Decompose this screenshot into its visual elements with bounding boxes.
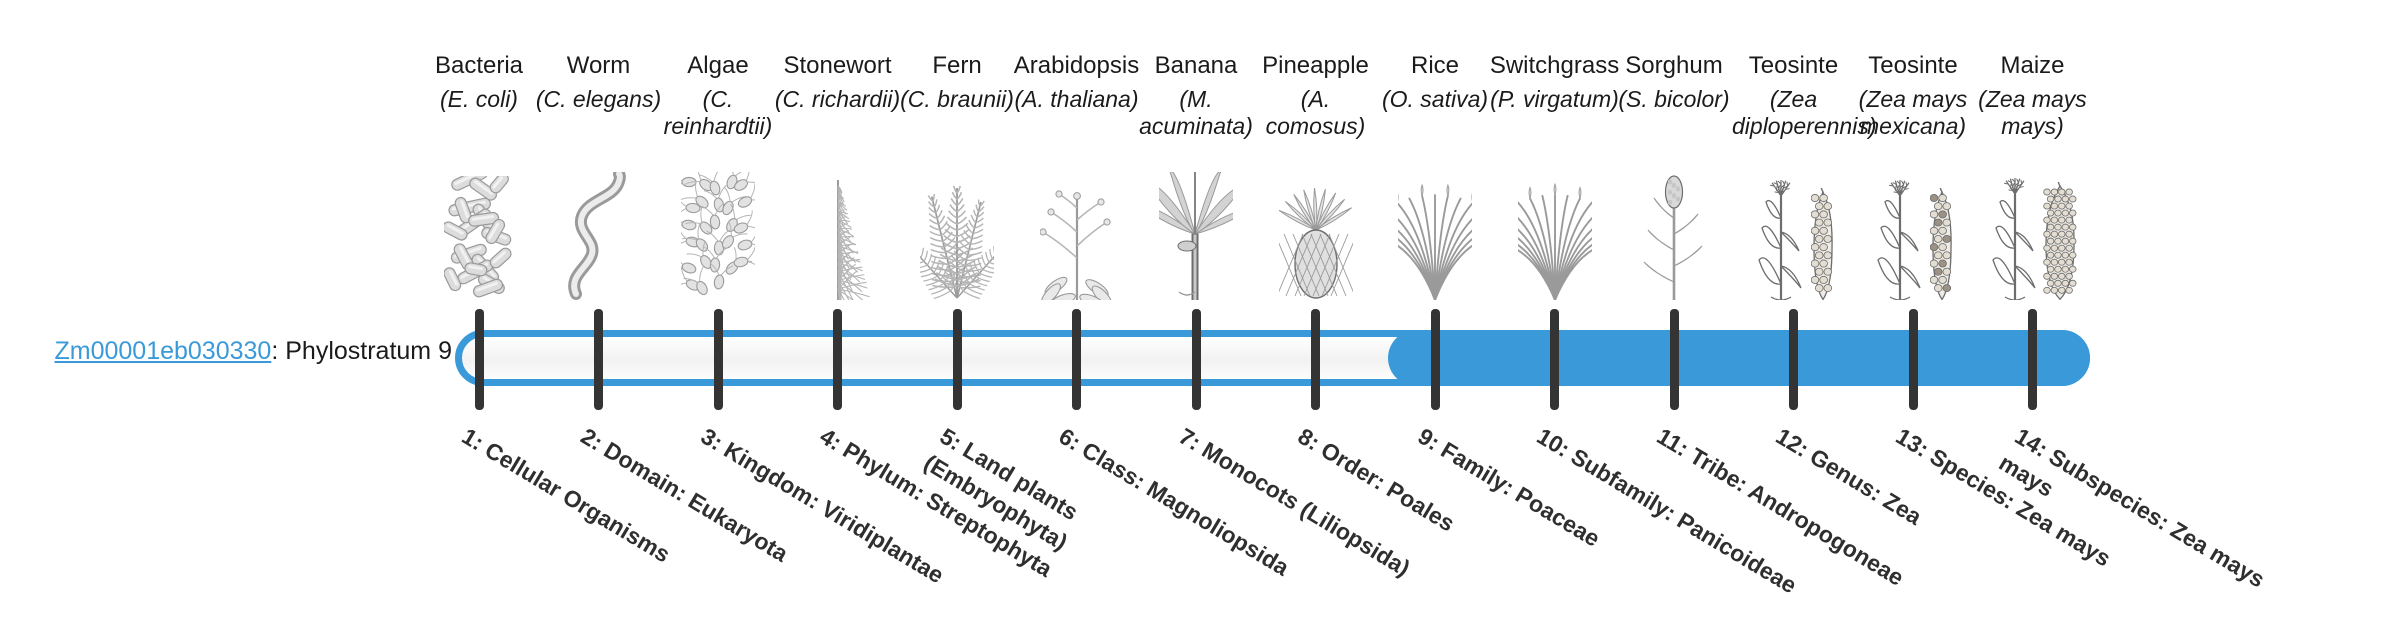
stratum-tick bbox=[1670, 309, 1679, 410]
species-name-block: Fern(C. braunii) bbox=[892, 52, 1023, 113]
stratum-rank-label: 14: Subspecies: Zea mays mays bbox=[1993, 421, 2282, 629]
phylostratigraphy-chart: Zm00001eb030330: Phylostratum 9 Bacteria… bbox=[0, 0, 2400, 580]
stratum-tick bbox=[833, 309, 842, 410]
species-common-name: Banana bbox=[1131, 52, 1262, 80]
stratum-number: 7: bbox=[1174, 423, 1205, 456]
species-scientific-name: (S. bicolor) bbox=[1609, 86, 1740, 113]
species-column: Fern(C. braunii)5: Land plants (Embryoph… bbox=[898, 0, 1017, 580]
stratum-tick bbox=[475, 309, 484, 410]
stratum-tick bbox=[714, 309, 723, 410]
stratum-rank: Subspecies: bbox=[2045, 443, 2175, 535]
species-column: Bacteria(E. coli)1: Cellular Organisms bbox=[420, 0, 539, 580]
stratum-tick bbox=[2028, 309, 2037, 410]
species-column: Algae(C. reinhardtii)3: Kingdom: Viridip… bbox=[659, 0, 778, 580]
species-common-name: Worm bbox=[533, 52, 664, 80]
algae-cells-illustration bbox=[659, 172, 778, 300]
stratum-number: 2: bbox=[577, 423, 608, 456]
sorghum-plant-illustration bbox=[1615, 172, 1734, 300]
arabidopsis-plant-illustration bbox=[1017, 172, 1136, 300]
rice-plant-illustration bbox=[1376, 172, 1495, 300]
species-name-block: Arabidopsis(A. thaliana) bbox=[1011, 52, 1142, 113]
stratum-tick bbox=[1072, 309, 1081, 410]
species-scientific-name: (A. thaliana) bbox=[1011, 86, 1142, 113]
species-scientific-name: (Zea mays mexicana) bbox=[1848, 86, 1979, 140]
species-name-block: Algae(C. reinhardtii) bbox=[653, 52, 784, 140]
stratum-number: 3: bbox=[696, 423, 727, 456]
nematode-worm-illustration bbox=[539, 172, 658, 300]
species-common-name: Arabidopsis bbox=[1011, 52, 1142, 80]
banana-tree-illustration bbox=[1137, 172, 1256, 300]
species-scientific-name: (M. acuminata) bbox=[1131, 86, 1262, 140]
species-scientific-name: (C. richardii) bbox=[772, 86, 903, 113]
species-common-name: Sorghum bbox=[1609, 52, 1740, 80]
species-scientific-name: (C. braunii) bbox=[892, 86, 1023, 113]
species-columns: Bacteria(E. coli)1: Cellular OrganismsWo… bbox=[0, 0, 2400, 580]
species-column: Teosinte(Zea diploperennis)12: Genus: Ze… bbox=[1734, 0, 1853, 580]
bacteria-rods-illustration bbox=[420, 172, 539, 300]
species-name-block: Sorghum(S. bicolor) bbox=[1609, 52, 1740, 113]
species-common-name: Maize bbox=[1967, 52, 2098, 80]
species-name-block: Stonewort(C. richardii) bbox=[772, 52, 903, 113]
stratum-tick bbox=[1311, 309, 1320, 410]
species-scientific-name: (Zea mays mays) bbox=[1967, 86, 2098, 140]
species-name-block: Pineapple(A. comosus) bbox=[1250, 52, 1381, 140]
maize-plant-and-ear-illustration bbox=[1973, 172, 2092, 300]
species-common-name: Pineapple bbox=[1250, 52, 1381, 80]
species-scientific-name: (C. reinhardtii) bbox=[653, 86, 784, 140]
species-scientific-name: (O. sativa) bbox=[1370, 86, 1501, 113]
stratum-tick bbox=[1789, 309, 1798, 410]
teosinte-plant-and-ear-illustration bbox=[1734, 172, 1853, 300]
species-column: Rice(O. sativa)9: Family: Poaceae bbox=[1376, 0, 1495, 580]
stratum-tick bbox=[1431, 309, 1440, 410]
species-column: Arabidopsis(A. thaliana)6: Class: Magnol… bbox=[1017, 0, 1136, 580]
species-column: Sorghum(S. bicolor)11: Tribe: Andropogon… bbox=[1615, 0, 1734, 580]
species-common-name: Teosinte bbox=[1848, 52, 1979, 80]
species-name-block: Teosinte(Zea diploperennis) bbox=[1728, 52, 1859, 140]
species-scientific-name: (C. elegans) bbox=[533, 86, 664, 113]
stratum-number: 5: bbox=[935, 423, 966, 456]
species-column: Teosinte(Zea mays mexicana)13: Species: … bbox=[1854, 0, 1973, 580]
species-common-name: Stonewort bbox=[772, 52, 903, 80]
species-scientific-name: (E. coli) bbox=[414, 86, 545, 113]
species-name-block: Maize(Zea mays mays) bbox=[1967, 52, 2098, 140]
species-name-block: Bacteria(E. coli) bbox=[414, 52, 545, 113]
stratum-tick bbox=[1192, 309, 1201, 410]
species-column: Pineapple(A. comosus)8: Order: Poales bbox=[1256, 0, 1375, 580]
species-column: Banana(M. acuminata)7: Monocots (Liliops… bbox=[1137, 0, 1256, 580]
stratum-tick bbox=[953, 309, 962, 410]
stratum-number: 9: bbox=[1413, 423, 1444, 456]
fern-frond-illustration bbox=[898, 172, 1017, 300]
teosinte-plant-and-ear-illustration bbox=[1854, 172, 1973, 300]
species-name-block: Rice(O. sativa) bbox=[1370, 52, 1501, 113]
species-common-name: Teosinte bbox=[1728, 52, 1859, 80]
species-common-name: Rice bbox=[1370, 52, 1501, 80]
stonewort-illustration bbox=[778, 172, 897, 300]
pineapple-illustration bbox=[1256, 172, 1375, 300]
species-scientific-name: (A. comosus) bbox=[1250, 86, 1381, 140]
species-column: Maize(Zea mays mays)14: Subspecies: Zea … bbox=[1973, 0, 2092, 580]
stratum-number: 6: bbox=[1055, 423, 1086, 456]
stratum-number: 13: bbox=[1891, 423, 1933, 462]
species-column: Switchgrass(P. virgatum)10: Subfamily: P… bbox=[1495, 0, 1614, 580]
species-name-block: Worm(C. elegans) bbox=[533, 52, 664, 113]
species-name-block: Switchgrass(P. virgatum) bbox=[1489, 52, 1620, 113]
species-common-name: Switchgrass bbox=[1489, 52, 1620, 80]
species-common-name: Fern bbox=[892, 52, 1023, 80]
species-common-name: Bacteria bbox=[414, 52, 545, 80]
species-scientific-name: (P. virgatum) bbox=[1489, 86, 1620, 113]
stratum-tick bbox=[594, 309, 603, 410]
stratum-number: 1: bbox=[457, 423, 488, 456]
stratum-tick bbox=[1550, 309, 1559, 410]
stratum-number: 11: bbox=[1652, 423, 1693, 462]
species-column: Stonewort(C. richardii)4: Phylum: Strept… bbox=[778, 0, 897, 580]
species-common-name: Algae bbox=[653, 52, 784, 80]
species-name-block: Teosinte(Zea mays mexicana) bbox=[1848, 52, 1979, 140]
stratum-number: 8: bbox=[1294, 423, 1325, 456]
species-name-block: Banana(M. acuminata) bbox=[1131, 52, 1262, 140]
stratum-number: 4: bbox=[816, 423, 847, 456]
species-scientific-name: (Zea diploperennis) bbox=[1728, 86, 1859, 140]
stratum-number: 10: bbox=[1533, 423, 1575, 462]
switchgrass-illustration bbox=[1495, 172, 1614, 300]
stratum-number: 12: bbox=[1772, 423, 1814, 462]
stratum-tick bbox=[1909, 309, 1918, 410]
species-column: Worm(C. elegans)2: Domain: Eukaryota bbox=[539, 0, 658, 580]
